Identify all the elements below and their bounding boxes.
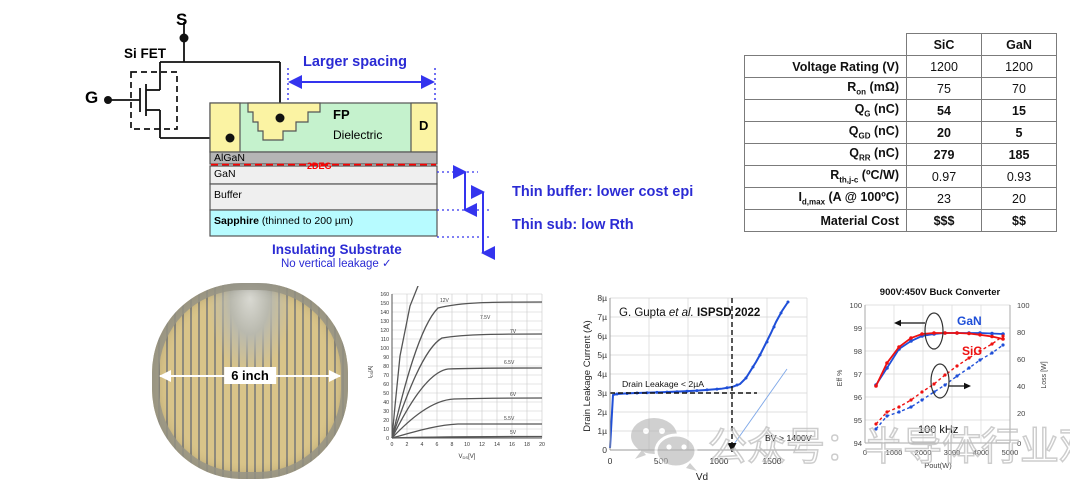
wafer-photo: 6 inch xyxy=(152,283,348,479)
rth-main: R xyxy=(830,168,839,182)
table-row: Material Cost $$$ $$ xyxy=(745,210,1057,232)
sic-loss-curve xyxy=(876,336,1003,424)
gan-loss-curve xyxy=(876,345,1003,429)
x-tick-labels: 010002000 300040005000 xyxy=(863,448,1018,457)
svg-text:60: 60 xyxy=(383,382,389,388)
svg-text:120: 120 xyxy=(380,328,389,334)
svg-text:40: 40 xyxy=(383,400,389,406)
sapphire-name: Sapphire xyxy=(214,215,259,227)
buck-converter-chart: 900V:450V Buck Converter xyxy=(832,283,1080,488)
svg-text:6.5V: 6.5V xyxy=(504,360,515,366)
title-author: G. Gupta xyxy=(619,307,669,319)
svg-text:20: 20 xyxy=(539,442,545,448)
insulating-substrate-label: Insulating Substrate xyxy=(272,243,402,257)
svg-text:10: 10 xyxy=(383,427,389,433)
breakdown-annotation: BV > 1400V xyxy=(765,433,812,443)
svg-text:160: 160 xyxy=(380,292,389,298)
device-cross-section-diagram: S G Si FET FP Dielectric D AlGaN GaN Buf… xyxy=(0,0,540,270)
cell-gan-idmax: 20 xyxy=(982,188,1057,210)
table-row: Rth,j-c (ºC/W) 0.97 0.93 xyxy=(745,166,1057,188)
rth-tail: (ºC/W) xyxy=(858,168,899,182)
output-characteristics-chart: 160150 140130 120110 10090 8070 6050 403… xyxy=(362,286,554,472)
y-tick-labels: 160150 140130 120110 10090 8070 6050 403… xyxy=(380,292,389,442)
row-label-qgd: QGD (nC) xyxy=(745,122,907,144)
cell-sic-qrr: 279 xyxy=(907,144,982,166)
row-label-material-cost: Material Cost xyxy=(745,210,907,232)
cell-gan-qgd: 5 xyxy=(982,122,1057,144)
cell-gan-qrr: 185 xyxy=(982,144,1057,166)
svg-text:97: 97 xyxy=(854,370,862,379)
qgd-main: Q xyxy=(849,124,859,138)
sic-gan-comparison-table: SiC GaN Voltage Rating (V) 1200 1200 Ron… xyxy=(744,33,1057,232)
grid-lines xyxy=(865,305,1010,443)
table-corner-cell xyxy=(745,34,907,56)
svg-text:20: 20 xyxy=(383,418,389,424)
dielectric-layer xyxy=(210,103,435,152)
cell-sic-idmax: 23 xyxy=(907,188,982,210)
terminal-s-label: S xyxy=(176,11,187,28)
sapphire-thickness: (thinned to 200 µm) xyxy=(259,215,353,227)
row-label-qrr: QRR (nC) xyxy=(745,144,907,166)
svg-text:5V: 5V xyxy=(510,430,517,436)
svg-text:95: 95 xyxy=(854,416,862,425)
sic-efficiency-curve xyxy=(876,333,1003,386)
svg-text:100: 100 xyxy=(1017,301,1030,310)
svg-text:2: 2 xyxy=(406,442,409,448)
2deg-label: 2DEG xyxy=(307,162,332,171)
ron-tail: (mΩ) xyxy=(866,80,899,94)
table-row: Ron (mΩ) 75 70 xyxy=(745,78,1057,100)
si-fet-label: Si FET xyxy=(124,47,166,61)
sapphire-label: Sapphire (thinned to 200 µm) xyxy=(214,216,353,227)
svg-text:99: 99 xyxy=(854,324,862,333)
algan-label: AlGaN xyxy=(214,153,245,164)
leakage-curve xyxy=(610,302,788,448)
x-axis-title: Pout(W) xyxy=(924,461,952,470)
cell-gan-rth: 0.93 xyxy=(982,166,1057,188)
svg-text:6V: 6V xyxy=(510,392,517,398)
loss-callout-ellipse xyxy=(931,364,949,398)
svg-text:0: 0 xyxy=(602,445,607,455)
svg-text:110: 110 xyxy=(381,337,389,343)
y-tick-labels: 8µ7µ6µ 5µ4µ3µ 2µ1µ0 xyxy=(597,293,607,455)
svg-text:8: 8 xyxy=(451,442,454,448)
qgd-tail: (nC) xyxy=(871,124,899,138)
x-axis-title: Vd xyxy=(696,472,708,483)
dielectric-label: Dielectric xyxy=(333,129,382,141)
left-y-tick-labels: 1009998 979695 94 xyxy=(849,301,862,448)
title-conference: ISPSD 2022 xyxy=(694,307,760,319)
svg-text:130: 130 xyxy=(380,319,389,325)
svg-text:80: 80 xyxy=(383,364,389,370)
x-axis-title: VDS[V] xyxy=(459,454,476,460)
y-axis-title: Drain Leakage Current (A) xyxy=(582,320,593,431)
svg-text:1µ: 1µ xyxy=(597,426,607,436)
svg-text:150: 150 xyxy=(380,301,389,307)
ron-sub: on xyxy=(856,88,866,97)
svg-text:7µ: 7µ xyxy=(597,312,607,322)
svg-text:50: 50 xyxy=(383,391,389,397)
svg-text:4: 4 xyxy=(421,442,424,448)
breakdown-arrow-head xyxy=(728,443,737,452)
table-row: Voltage Rating (V) 1200 1200 xyxy=(745,56,1057,78)
table-row: Id,max (A @ 100ºC) 23 20 xyxy=(745,188,1057,210)
svg-text:0: 0 xyxy=(391,442,394,448)
drain-leakage-svg: 8µ7µ6µ 5µ4µ3µ 2µ1µ0 0500 10001500 Vd Dra… xyxy=(582,284,820,494)
row-label-rth: Rth,j-c (ºC/W) xyxy=(745,166,907,188)
larger-spacing-label: Larger spacing xyxy=(303,55,407,70)
row-label-idmax: Id,max (A @ 100ºC) xyxy=(745,188,907,210)
right-y-tick-labels: 1008060 40200 xyxy=(1017,301,1030,448)
table-row: QRR (nC) 279 185 xyxy=(745,144,1057,166)
chart-title: 900V:450V Buck Converter xyxy=(880,287,1001,298)
cell-sic-qg: 54 xyxy=(907,100,982,122)
qrr-tail: (nC) xyxy=(871,146,899,160)
wafer-size-label: 6 inch xyxy=(224,367,276,384)
svg-text:30: 30 xyxy=(383,409,389,415)
svg-text:18: 18 xyxy=(524,442,530,448)
qg-main: Q xyxy=(855,102,865,116)
svg-text:94: 94 xyxy=(854,439,862,448)
svg-text:100: 100 xyxy=(849,301,862,310)
thin-buffer-label: Thin buffer: lower cost epi xyxy=(512,185,693,200)
right-y-axis-title: Loss [W] xyxy=(1041,361,1048,388)
qrr-main: Q xyxy=(849,146,859,160)
y-axis-title: IDS[A] xyxy=(368,365,374,378)
svg-text:14: 14 xyxy=(494,442,500,448)
svg-text:5000: 5000 xyxy=(1002,448,1019,457)
svg-text:140: 140 xyxy=(380,310,389,316)
field-plate-label: FP xyxy=(333,108,350,121)
svg-text:0: 0 xyxy=(1017,439,1021,448)
buffer-layer xyxy=(210,184,437,210)
chart-title: G. Gupta et al. ISPSD 2022 xyxy=(619,307,760,319)
x-tick-labels: 0500 10001500 xyxy=(608,456,782,466)
svg-text:20: 20 xyxy=(1017,409,1025,418)
svg-text:2000: 2000 xyxy=(915,448,932,457)
qrr-sub: RR xyxy=(859,154,871,163)
x-tick-labels: 024 6810 121416 1820 xyxy=(391,442,545,448)
sic-legend-label: SiC xyxy=(962,344,982,358)
source-pad-contact-dot xyxy=(226,134,235,143)
cell-gan-ron: 70 xyxy=(982,78,1057,100)
title-etal: et al. xyxy=(669,307,694,319)
buffer-label: Buffer xyxy=(214,190,242,201)
cross-section-svg xyxy=(0,0,540,270)
left-y-axis-title: Eff % xyxy=(837,370,844,387)
idmax-tail: (A @ 100ºC) xyxy=(825,190,899,204)
svg-text:98: 98 xyxy=(854,347,862,356)
cell-sic-qgd: 20 xyxy=(907,122,982,144)
svg-text:3µ: 3µ xyxy=(597,388,607,398)
svg-text:100: 100 xyxy=(380,346,389,352)
buck-converter-svg: 900V:450V Buck Converter xyxy=(832,283,1080,488)
svg-text:1000: 1000 xyxy=(710,456,729,466)
svg-text:0: 0 xyxy=(386,436,389,442)
terminal-g-label: G xyxy=(85,89,98,106)
svg-text:8µ: 8µ xyxy=(597,293,607,303)
svg-text:3000: 3000 xyxy=(944,448,961,457)
cell-sic-material-cost: $$$ xyxy=(907,210,982,232)
ron-main: R xyxy=(847,80,856,94)
svg-text:7V: 7V xyxy=(510,329,517,335)
efficiency-callout-ellipse xyxy=(925,313,943,349)
drain-leakage-chart: 8µ7µ6µ 5µ4µ3µ 2µ1µ0 0500 10001500 Vd Dra… xyxy=(582,284,820,494)
svg-text:40: 40 xyxy=(1017,382,1025,391)
svg-text:1000: 1000 xyxy=(886,448,903,457)
cell-sic-voltage-rating: 1200 xyxy=(907,56,982,78)
source-ohmic-pad xyxy=(210,103,240,152)
gate-terminal-dot xyxy=(104,96,112,104)
svg-text:500: 500 xyxy=(654,456,668,466)
curve-annotations: 12V 7.5V 7V 6.5V 6V 5.5V 5V xyxy=(440,298,517,436)
field-plate-contact-dot xyxy=(276,114,285,123)
thin-sub-label: Thin sub: low Rth xyxy=(512,218,634,233)
svg-text:12V: 12V xyxy=(440,298,450,304)
cell-gan-voltage-rating: 1200 xyxy=(982,56,1057,78)
table-row: QG (nC) 54 15 xyxy=(745,100,1057,122)
svg-text:0: 0 xyxy=(608,456,613,466)
row-label-ron: Ron (mΩ) xyxy=(745,78,907,100)
svg-text:4000: 4000 xyxy=(973,448,990,457)
terminal-d-label: D xyxy=(419,119,428,132)
qgd-sub: GD xyxy=(859,132,871,141)
switching-frequency-note: 100 kHz xyxy=(918,424,958,436)
svg-text:0: 0 xyxy=(863,448,867,457)
svg-text:12: 12 xyxy=(479,442,485,448)
output-characteristics-svg: 160150 140130 120110 10090 8070 6050 403… xyxy=(362,286,554,472)
svg-text:6: 6 xyxy=(436,442,439,448)
svg-text:6µ: 6µ xyxy=(597,331,607,341)
cell-sic-rth: 0.97 xyxy=(907,166,982,188)
gan-label: GaN xyxy=(214,169,236,180)
idmax-sub: d,max xyxy=(802,198,825,207)
svg-text:2µ: 2µ xyxy=(597,407,607,417)
efficiency-arrow-head xyxy=(894,320,901,326)
svg-text:7.5V: 7.5V xyxy=(480,315,491,321)
svg-text:90: 90 xyxy=(383,355,389,361)
svg-text:4µ: 4µ xyxy=(597,369,607,379)
svg-text:1500: 1500 xyxy=(763,456,782,466)
svg-text:70: 70 xyxy=(383,373,389,379)
svg-text:96: 96 xyxy=(854,393,862,402)
gan-legend-label: GaN xyxy=(957,314,982,328)
svg-text:10: 10 xyxy=(464,442,470,448)
qg-tail: (nC) xyxy=(871,102,899,116)
table-row: QGD (nC) 20 5 xyxy=(745,122,1057,144)
row-label-qg: QG (nC) xyxy=(745,100,907,122)
gan-efficiency-curve xyxy=(876,333,1003,385)
svg-text:80: 80 xyxy=(1017,328,1025,337)
table-header-row: SiC GaN xyxy=(745,34,1057,56)
no-vertical-leakage-label: No vertical leakage ✓ xyxy=(281,259,392,271)
svg-text:60: 60 xyxy=(1017,355,1025,364)
svg-text:16: 16 xyxy=(509,442,515,448)
source-terminal-dot xyxy=(180,34,189,43)
column-header-gan: GaN xyxy=(982,34,1057,56)
loss-arrow-head xyxy=(964,383,971,389)
leakage-annotation: Drain Leakage < 2µA xyxy=(622,379,704,389)
row-label-voltage-rating: Voltage Rating (V) xyxy=(745,56,907,78)
column-header-sic: SiC xyxy=(907,34,982,56)
svg-text:5µ: 5µ xyxy=(597,350,607,360)
cell-gan-qg: 15 xyxy=(982,100,1057,122)
svg-text:5.5V: 5.5V xyxy=(504,416,515,422)
rth-sub: th,j-c xyxy=(839,176,858,185)
cell-sic-ron: 75 xyxy=(907,78,982,100)
cell-gan-material-cost: $$ xyxy=(982,210,1057,232)
